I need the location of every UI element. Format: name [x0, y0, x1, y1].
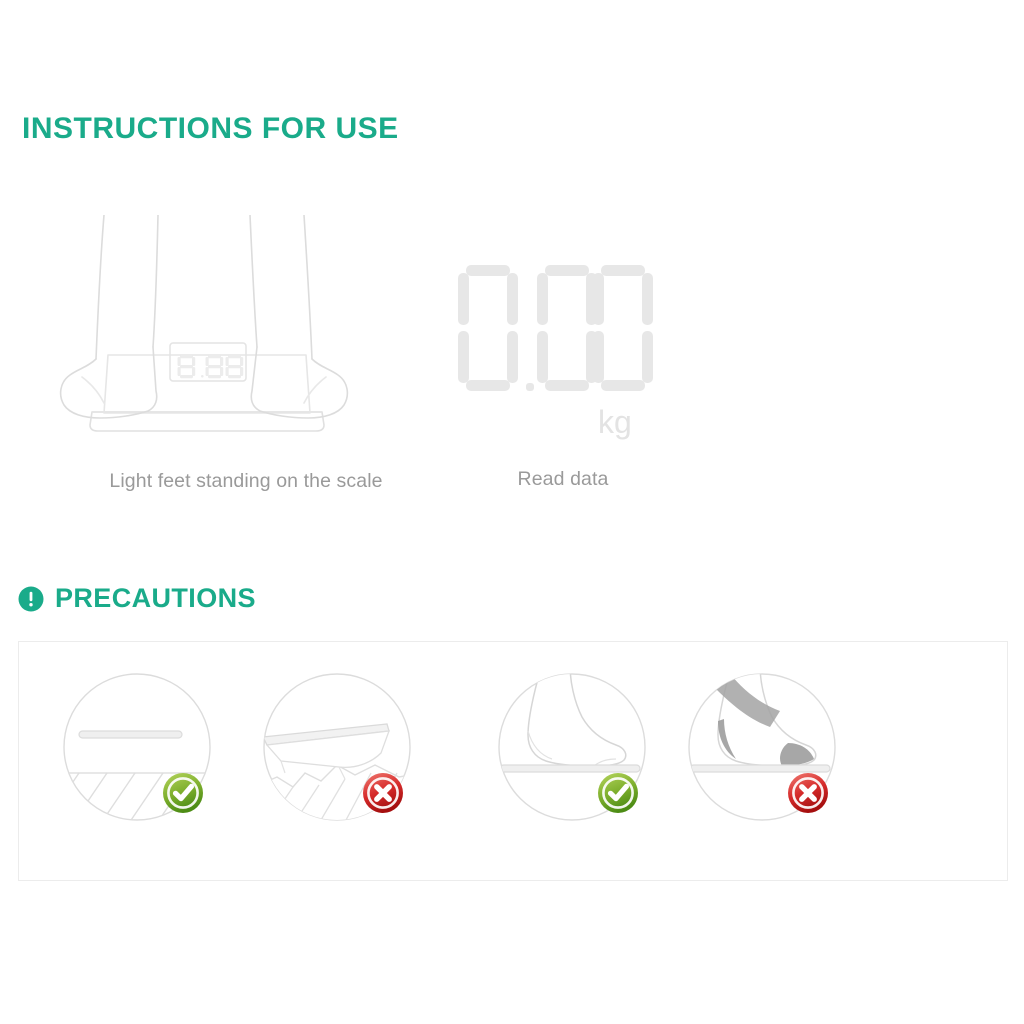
precaution-item-hard-floor	[59, 669, 234, 834]
instruction-step-caption: Read data	[438, 468, 688, 491]
check-badge	[163, 773, 203, 813]
instruction-step-read: kg Read data	[438, 215, 688, 455]
lcd-digits	[458, 265, 653, 391]
scale-on-carpet-icon	[259, 669, 434, 834]
feet-on-scale-illustration	[52, 215, 362, 455]
instruction-step-caption: Light feet standing on the scale	[46, 470, 446, 493]
lcd-display-illustration: kg	[438, 215, 688, 455]
precautions-heading-label: PRECAUTIONS	[55, 583, 256, 614]
cross-badge	[363, 773, 403, 813]
bare-foot-on-scale-icon	[494, 669, 669, 834]
alert-exclamation-icon	[18, 586, 44, 612]
scale-on-hard-floor-icon	[59, 669, 234, 834]
instruction-steps-row: Light feet standing on the scale	[0, 215, 1024, 515]
lcd-unit-label: kg	[598, 404, 632, 440]
precautions-panel	[18, 641, 1008, 881]
precaution-item-sock-foot	[684, 669, 859, 834]
instruction-step-stand: Light feet standing on the scale	[52, 215, 362, 455]
cross-badge	[788, 773, 828, 813]
precautions-heading: PRECAUTIONS	[18, 583, 256, 614]
page-title: INSTRUCTIONS FOR USE	[22, 112, 399, 146]
precaution-item-bare-foot	[494, 669, 669, 834]
precautions-item-list	[19, 642, 1009, 882]
check-badge	[598, 773, 638, 813]
scale-lcd-readout	[178, 355, 244, 378]
precaution-item-carpet	[259, 669, 434, 834]
sock-foot-on-scale-icon	[684, 669, 859, 834]
